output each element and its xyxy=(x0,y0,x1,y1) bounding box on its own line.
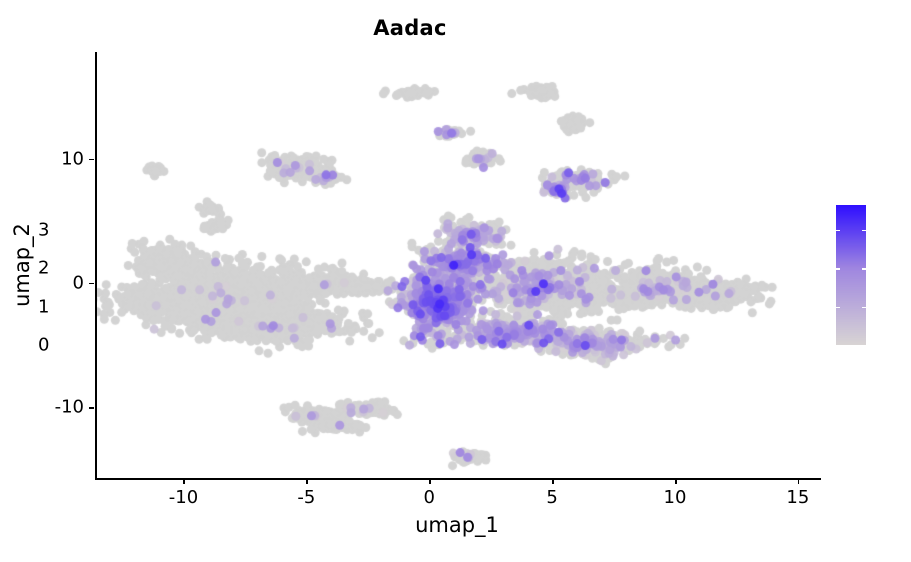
x-tick-label: 5 xyxy=(546,487,557,508)
colorbar-tick-mark xyxy=(836,307,840,309)
colorbar-tick-mark xyxy=(836,268,840,270)
x-tick-mark xyxy=(675,479,677,484)
colorbar-tick-mark xyxy=(836,345,840,347)
colorbar-tick-label: 1 xyxy=(38,296,49,317)
x-tick-mark xyxy=(552,479,554,484)
y-tick-mark xyxy=(89,159,94,161)
colorbar-tick-label: 0 xyxy=(38,335,49,356)
umap-feature-plot-figure: Aadac -10-5051015 -10010 umap_1 umap_2 0… xyxy=(0,0,911,562)
x-tick-label: -5 xyxy=(297,487,315,508)
colorbar-tick-mark xyxy=(862,230,866,232)
colorbar-gradient xyxy=(836,205,866,345)
colorbar-tick-label: 2 xyxy=(38,258,49,279)
plot-area xyxy=(95,52,820,479)
x-axis-label: umap_1 xyxy=(415,513,499,537)
x-tick-label: -10 xyxy=(169,487,198,508)
colorbar xyxy=(836,205,866,345)
y-tick-mark xyxy=(89,407,94,409)
y-tick-label: 0 xyxy=(73,272,84,293)
x-tick-label: 10 xyxy=(664,487,687,508)
y-axis-label: umap_2 xyxy=(10,223,34,307)
colorbar-tick-label: 3 xyxy=(38,219,49,240)
y-tick-label: -10 xyxy=(55,397,84,418)
x-tick-label: 15 xyxy=(786,487,809,508)
y-tick-mark xyxy=(89,283,94,285)
colorbar-tick-mark xyxy=(862,307,866,309)
x-axis-spine xyxy=(95,478,821,480)
colorbar-tick-mark xyxy=(862,345,866,347)
x-tick-label: 0 xyxy=(424,487,435,508)
colorbar-tick-mark xyxy=(862,268,866,270)
y-tick-label: 10 xyxy=(61,148,84,169)
scatter-points-canvas xyxy=(95,52,820,479)
y-axis-spine xyxy=(95,52,97,479)
x-tick-mark xyxy=(183,479,185,484)
x-tick-mark xyxy=(798,479,800,484)
x-tick-mark xyxy=(306,479,308,484)
x-tick-mark xyxy=(429,479,431,484)
colorbar-tick-mark xyxy=(836,230,840,232)
page-title: Aadac xyxy=(0,16,820,40)
